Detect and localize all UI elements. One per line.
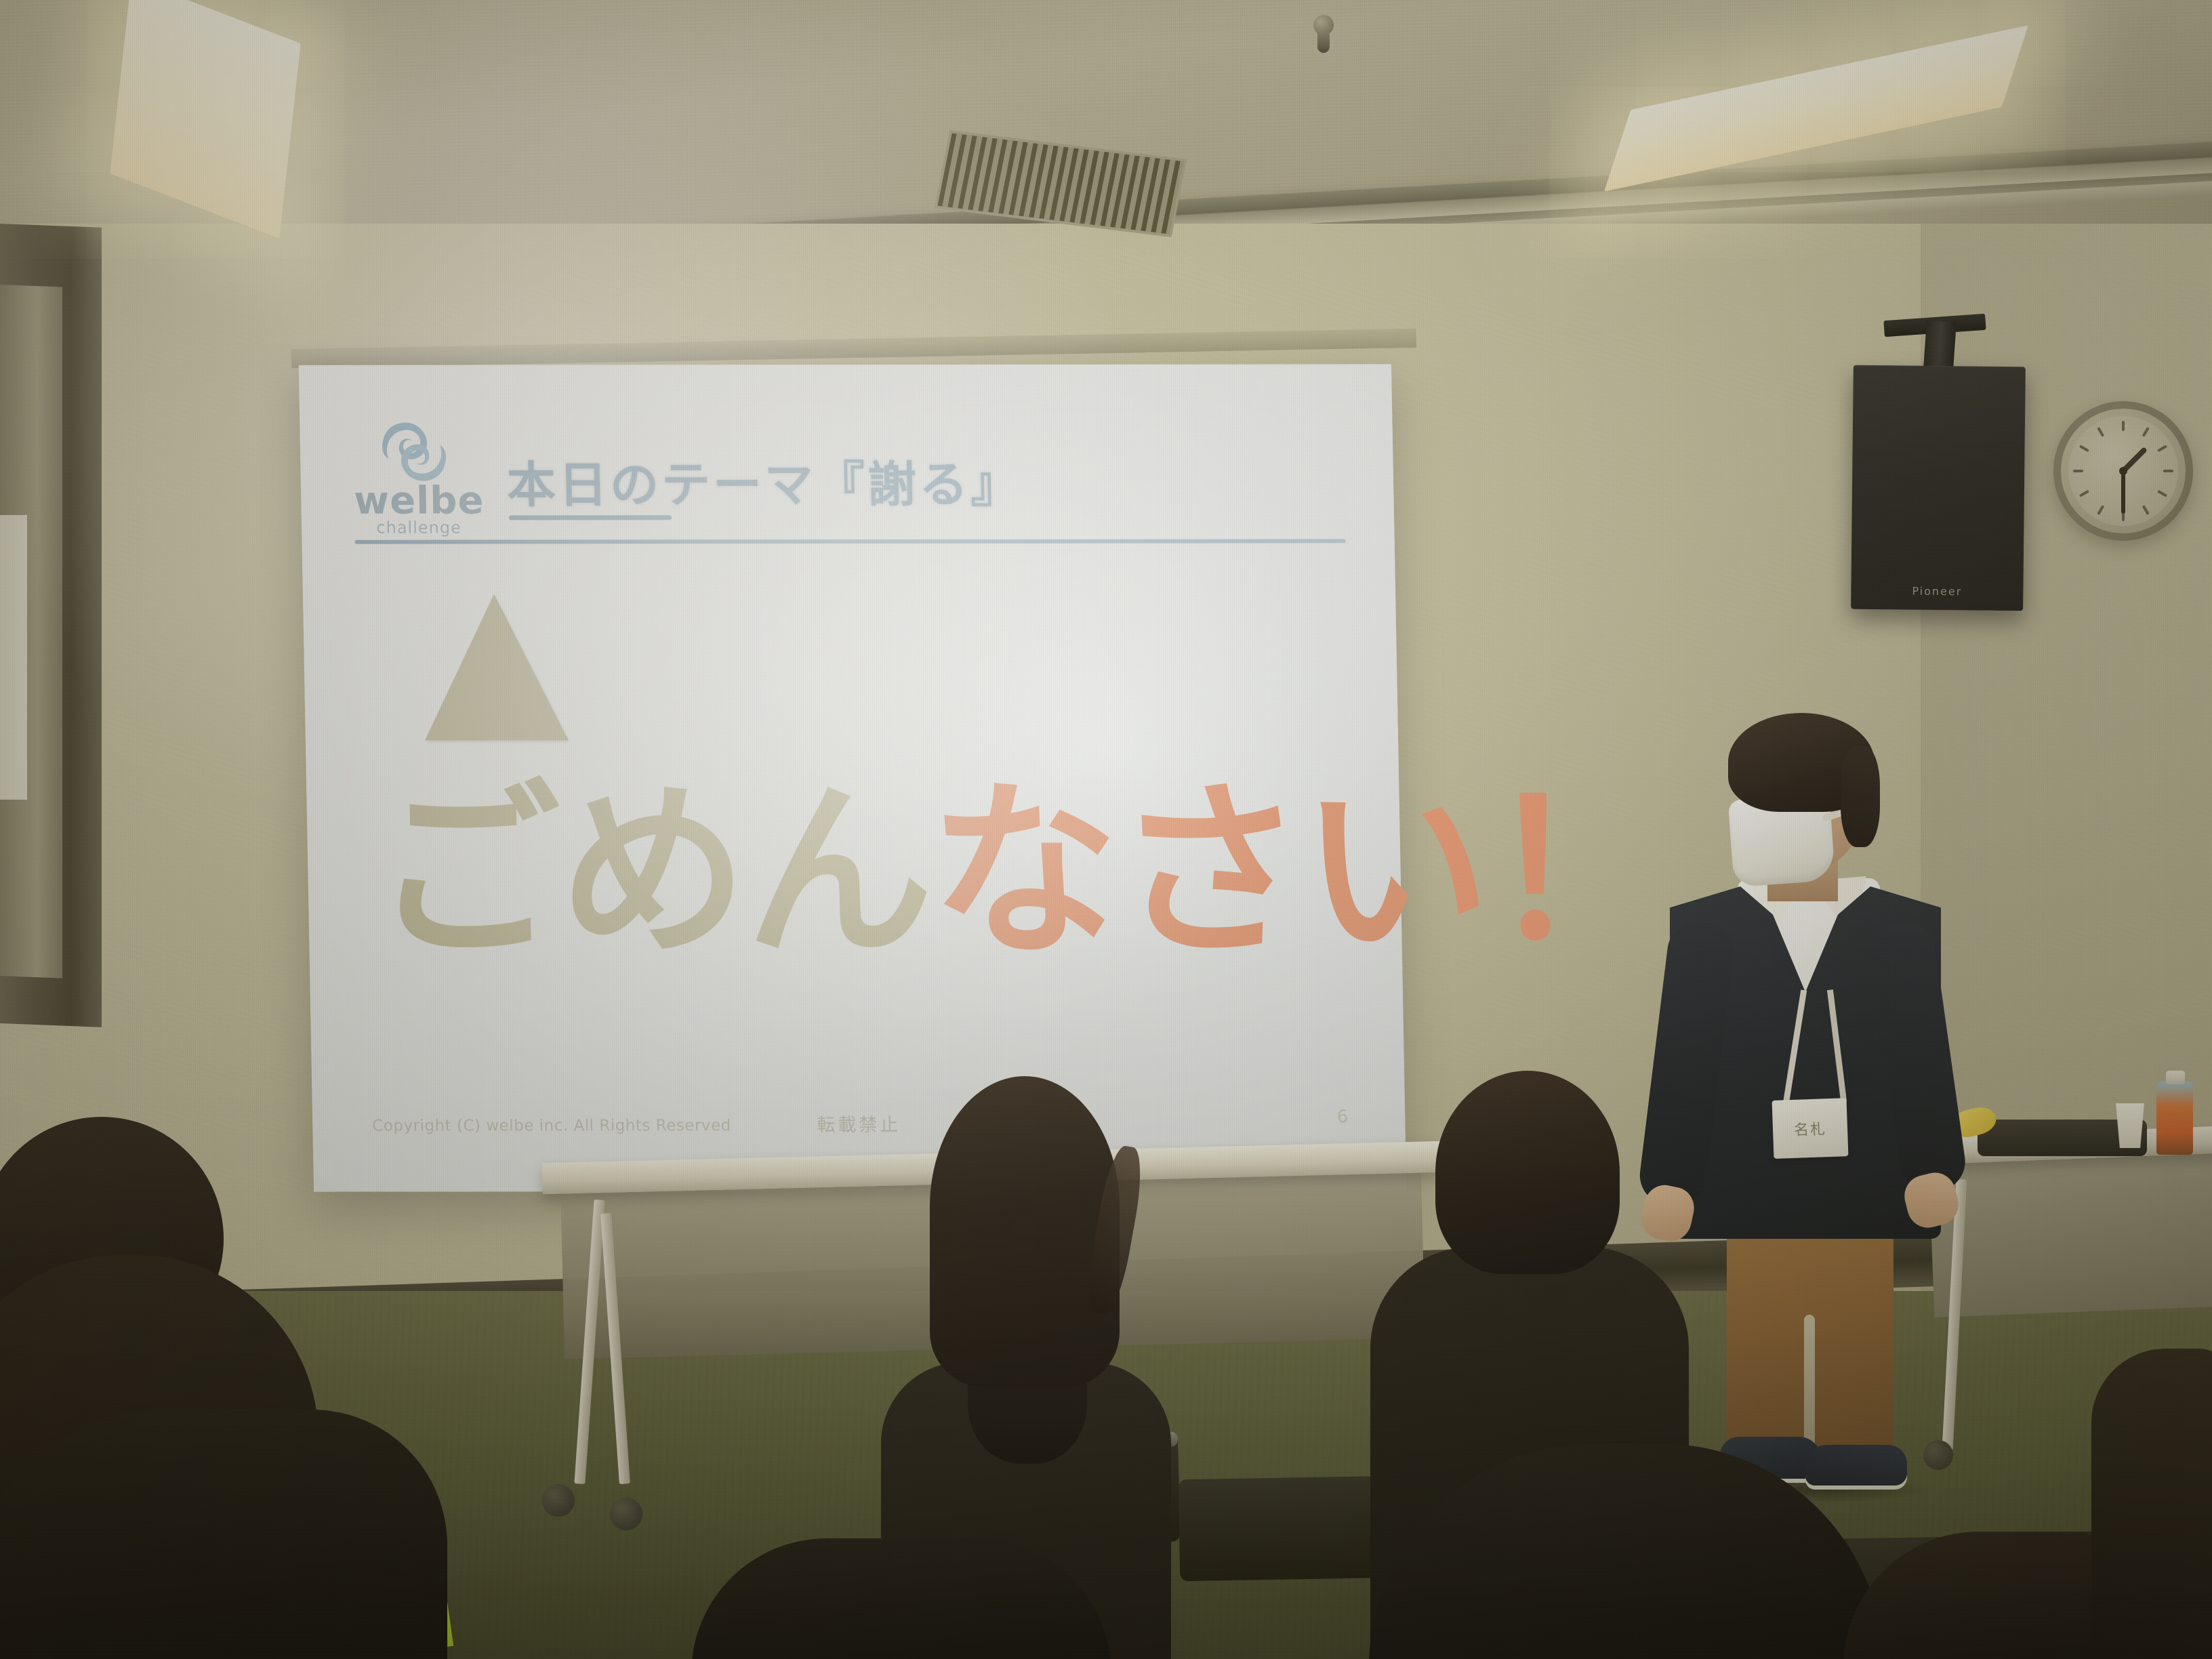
- welbe-wordmark: welbe: [354, 479, 483, 523]
- presenter-hair-side: [1841, 745, 1880, 847]
- welbe-swirl-mark: [378, 421, 450, 483]
- slide-title-underline: [509, 515, 672, 520]
- clock-tick: [2097, 427, 2104, 437]
- clock-tick: [2073, 470, 2083, 472]
- audience-member-seated-right-head: [1435, 1071, 1620, 1274]
- clock-tick: [2142, 427, 2150, 437]
- slide-page-number: 6: [1336, 1107, 1348, 1127]
- name-badge-text: 名札: [1793, 1117, 1826, 1140]
- slide-center-note: 転載禁止: [312, 1109, 1406, 1136]
- analog-wall-clock: [2053, 401, 2193, 541]
- message-segment-gomen: ごめん: [371, 762, 932, 983]
- clock-tick: [2079, 445, 2089, 452]
- speaker-brand-label: Pioneer: [1912, 585, 1962, 598]
- slide-header: welbe challenge 本日のテーマ『謝る』: [352, 413, 1345, 556]
- wall-speaker: Pioneer: [1851, 365, 2026, 611]
- clock-tick: [2157, 490, 2167, 497]
- clock-tick: [2122, 421, 2125, 431]
- whiteboard-edge: [0, 515, 27, 800]
- slide-surface: welbe challenge 本日のテーマ『謝る』 ごめんなさい！ Copyr…: [299, 364, 1407, 1191]
- table-caster: [610, 1498, 642, 1530]
- clock-tick: [2157, 445, 2167, 452]
- side-table-modesty-panel: [1929, 1151, 2212, 1317]
- clock-center-pin: [2119, 467, 2127, 475]
- clock-tick: [2097, 505, 2104, 515]
- triangle-shape: [422, 594, 569, 740]
- foreground-silhouette: [2091, 1349, 2212, 1659]
- clock-face: [2068, 416, 2178, 526]
- clock-minute-hand: [2121, 470, 2125, 514]
- foreground-silhouette: [0, 1410, 447, 1659]
- clock-tick: [2142, 505, 2150, 515]
- welbe-logo: welbe challenge: [352, 421, 483, 541]
- clock-tick: [2079, 490, 2089, 497]
- welbe-tagline: challenge: [354, 518, 484, 537]
- message-segment-nasai: なさい！: [928, 762, 1675, 982]
- seminar-room-photo: Pioneer: [0, 0, 2212, 1659]
- bottle-cap: [2166, 1071, 2185, 1084]
- slide-title: 本日のテーマ『謝る』: [506, 445, 1023, 516]
- drink-bottle: [2156, 1082, 2193, 1155]
- presenter-leg-gap: [1804, 1315, 1815, 1457]
- table-caster: [542, 1484, 575, 1517]
- presenter: 名札: [1647, 718, 1959, 1491]
- audience-member-seated-center-head: [930, 1076, 1120, 1388]
- presenter-name-badge: 名札: [1772, 1098, 1849, 1159]
- clock-tick: [2163, 470, 2173, 472]
- paper-cup: [2116, 1103, 2144, 1148]
- slide-main-message: ごめんなさい！: [371, 777, 1364, 966]
- projection-screen[interactable]: welbe challenge 本日のテーマ『謝る』 ごめんなさい！ Copyr…: [299, 364, 1407, 1191]
- presenter-shoe: [1805, 1445, 1907, 1486]
- sprinkler-head: [1308, 15, 1340, 54]
- sprinkler-nozzle: [1317, 33, 1330, 53]
- slide-header-rule: [354, 539, 1345, 544]
